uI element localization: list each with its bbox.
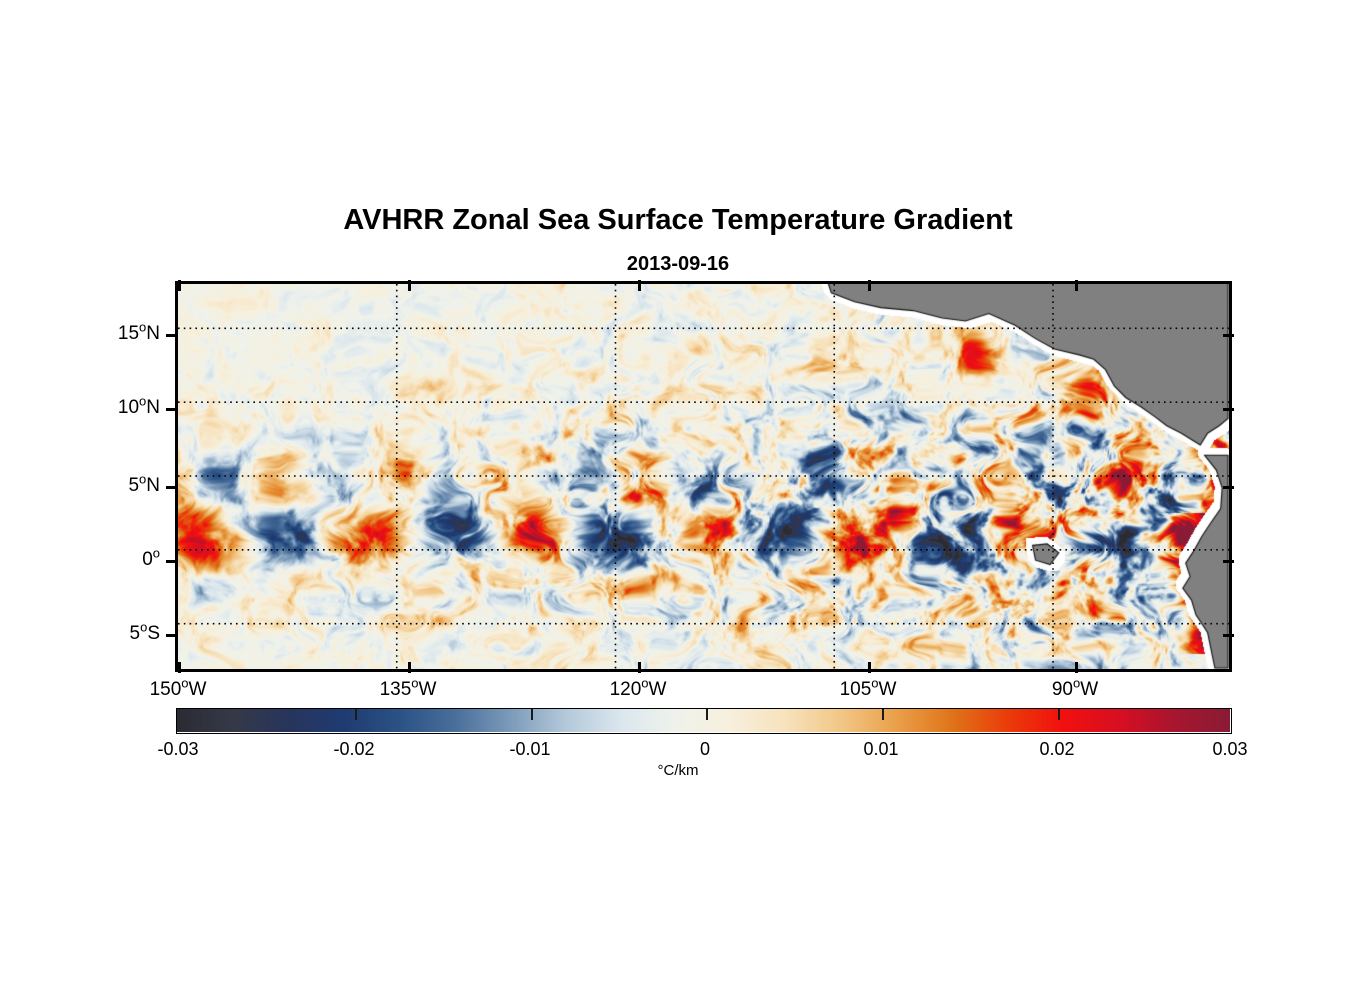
colorbar-tick-6: 0.03: [1212, 739, 1247, 760]
map-overlay: [178, 284, 1229, 669]
x-tickmark: [638, 662, 641, 673]
y-tickmark: [166, 334, 177, 337]
x-tickmark: [868, 662, 871, 673]
x-tick-label-90W: 90oW: [1052, 679, 1098, 701]
x-tickmark: [408, 662, 411, 673]
colorbar-gradient: [177, 709, 1230, 732]
y-tick-label-5N: 5oN: [0, 475, 160, 497]
colorbar-tick-2: -0.01: [509, 739, 550, 760]
y-tickmark: [166, 560, 177, 563]
colorbar-tickmark: [706, 709, 708, 720]
y-tickmark: [1223, 486, 1234, 489]
y-tick-label-15N: 15oN: [0, 323, 160, 345]
x-tickmark: [868, 280, 871, 291]
colorbar-tickmark: [531, 709, 533, 720]
x-tickmark: [178, 662, 181, 673]
y-tickmark: [1223, 634, 1234, 637]
x-tickmark: [408, 280, 411, 291]
y-tickmark: [166, 486, 177, 489]
y-tick-label-5S: 5oS: [0, 623, 160, 645]
y-tick-label-0N: 0o: [0, 549, 160, 571]
colorbar-tick-4: 0.01: [863, 739, 898, 760]
map-plot-area: [175, 281, 1232, 672]
x-tick-label-105W: 105oW: [840, 679, 897, 701]
x-tick-label-120W: 120oW: [610, 679, 667, 701]
colorbar-tick-0: -0.03: [157, 739, 198, 760]
colorbar-tickmark: [882, 709, 884, 720]
colorbar-tick-1: -0.02: [333, 739, 374, 760]
figure-canvas: AVHRR Zonal Sea Surface Temperature Grad…: [0, 0, 1356, 1000]
x-tickmark: [178, 280, 181, 291]
colorbar-tickmark: [355, 709, 357, 720]
colorbar-tick-3: 0: [700, 739, 710, 760]
y-tickmark: [166, 634, 177, 637]
colorbar-tick-5: 0.02: [1039, 739, 1074, 760]
y-tickmark: [166, 408, 177, 411]
x-tickmark: [1075, 280, 1078, 291]
y-tickmark: [1223, 560, 1234, 563]
figure-subtitle: 2013-09-16: [0, 253, 1356, 276]
y-tickmark: [1223, 334, 1234, 337]
y-tickmark: [1223, 408, 1234, 411]
colorbar-units-label: °C/km: [0, 762, 1356, 779]
figure-title: AVHRR Zonal Sea Surface Temperature Grad…: [0, 204, 1356, 237]
x-tick-label-135W: 135oW: [380, 679, 437, 701]
colorbar-tickmark: [1058, 709, 1060, 720]
y-tick-label-10N: 10oN: [0, 397, 160, 419]
colorbar[interactable]: [176, 708, 1232, 734]
x-tickmark: [1075, 662, 1078, 673]
x-tickmark: [638, 280, 641, 291]
x-tick-label-150W: 150oW: [150, 679, 207, 701]
